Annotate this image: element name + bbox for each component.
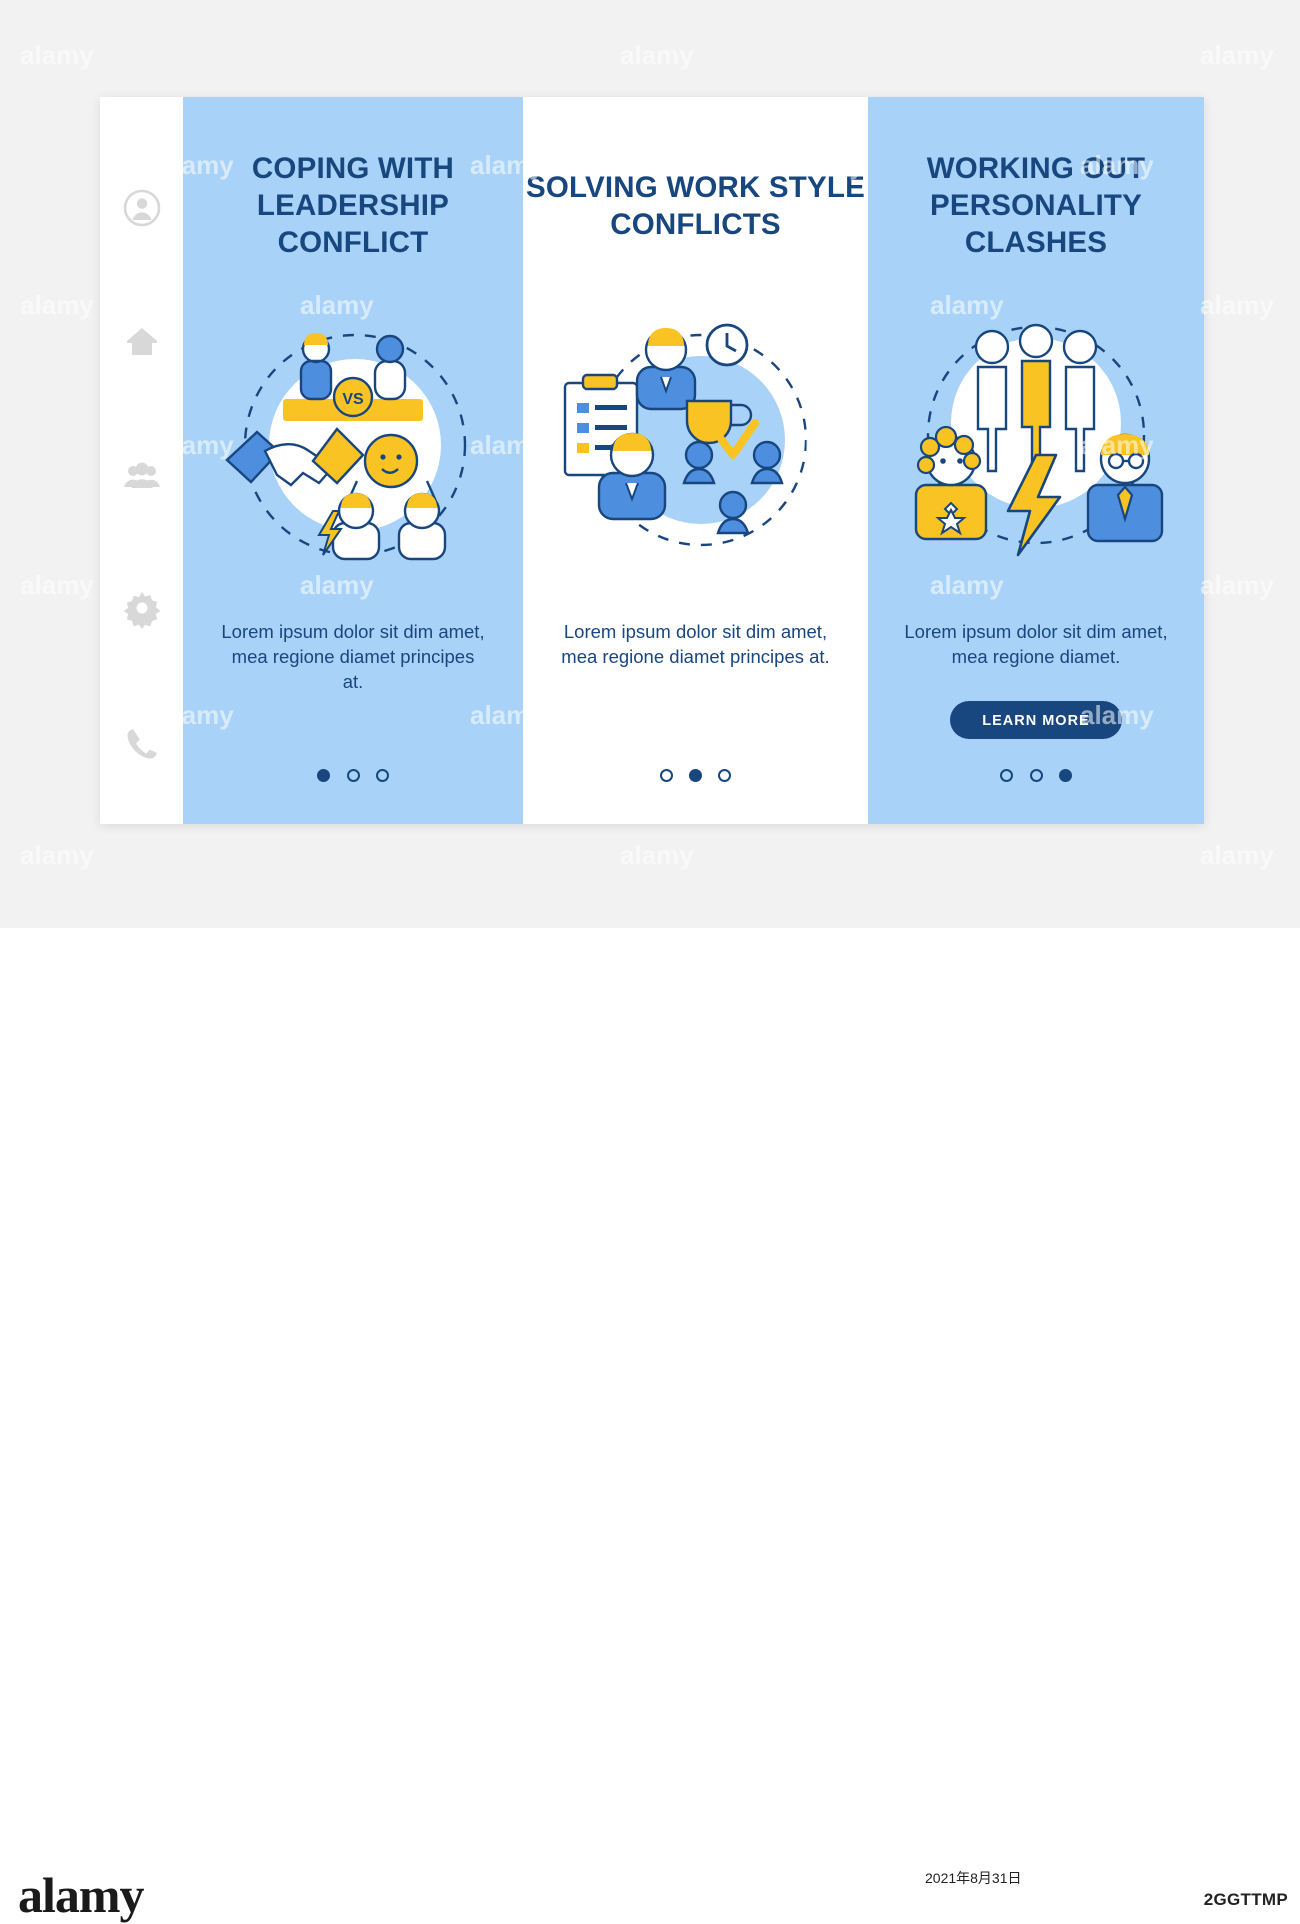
phone-icon[interactable] [121,723,163,765]
panel-coping-with-leadership-conflict: COPING WITH LEADERSHIP CONFLICT [183,97,523,824]
page-title: SOLVING WORK STYLE CONFLICTS [523,169,868,243]
footer-date: 2021年8月31日 [925,1868,1022,1888]
personality-clashes-illustration [886,305,1186,575]
work-style-conflicts-illustration [551,305,841,575]
pagination-dots[interactable] [523,767,868,785]
page-title: WORKING OUT PERSONALITY CLASHES [868,150,1204,261]
dot-1[interactable] [660,769,673,782]
onboarding-card: COPING WITH LEADERSHIP CONFLICT [100,97,1204,824]
watermark-text: alamy [20,40,94,71]
watermark-text: alamy [20,570,94,601]
watermark-text: alamy [20,290,94,321]
learn-more-button[interactable]: LEARN MORE [950,701,1122,739]
panel-description: Lorem ipsum dolor sit dim amet, mea regi… [523,619,868,669]
watermark-text: alamy [20,840,94,871]
page-title: COPING WITH LEADERSHIP CONFLICT [183,150,523,261]
gear-icon[interactable] [121,589,163,631]
dot-3[interactable] [718,769,731,782]
people-icon[interactable] [121,455,163,497]
user-icon[interactable] [121,187,163,229]
svg-text:VS: VS [342,391,364,408]
watermark-text: alamy [1200,290,1274,321]
dot-3[interactable] [376,769,389,782]
watermark-text: alamy [1200,840,1274,871]
watermark-text: alamy [620,840,694,871]
watermark-text: alamy [1200,570,1274,601]
dot-2[interactable] [347,769,360,782]
dot-1[interactable] [1000,769,1013,782]
panel-description: Lorem ipsum dolor sit dim amet, mea regi… [183,619,523,694]
panel-working-out-personality-clashes: WORKING OUT PERSONALITY CLASHES [868,97,1204,824]
dot-1[interactable] [317,769,330,782]
dot-2[interactable] [689,769,702,782]
pagination-dots[interactable] [183,767,523,785]
panel-solving-work-style-conflicts: SOLVING WORK STYLE CONFLICTS [523,97,868,824]
stock-footer: alamy 2021年8月31日 2GGTTMP [0,928,1300,1008]
dot-3[interactable] [1059,769,1072,782]
stock-photo-stage: COPING WITH LEADERSHIP CONFLICT [0,0,1300,928]
leadership-conflict-illustration: VS [205,305,505,585]
sidebar [100,97,183,824]
home-icon[interactable] [121,321,163,363]
watermark-text: alamy [620,40,694,71]
alamy-logo: alamy [18,1866,144,1924]
watermark-text: alamy [1200,40,1274,71]
dot-2[interactable] [1030,769,1043,782]
pagination-dots[interactable] [868,767,1204,785]
panel-description: Lorem ipsum dolor sit dim amet, mea regi… [868,619,1204,669]
footer-image-id: 2GGTTMP [1204,1890,1288,1910]
